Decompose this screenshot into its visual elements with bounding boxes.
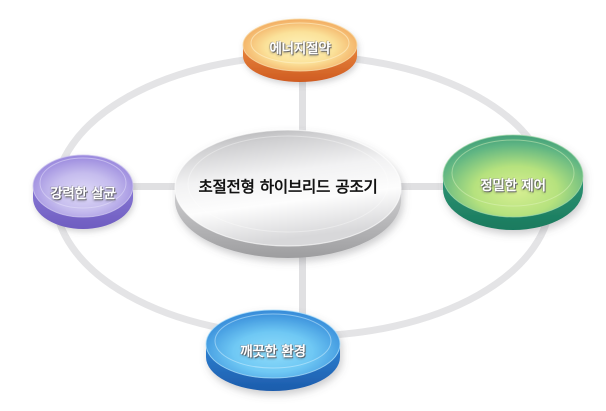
diagram-canvas: 초절전형 하이브리드 공조기 에너지절약 정밀한 제어 깨끗한 환경 강력한 살…: [0, 0, 606, 411]
node-energy-saving-shape[interactable]: [243, 19, 357, 82]
node-precise-control-shape[interactable]: [443, 135, 583, 230]
center-node-shape: [175, 130, 401, 258]
node-clean-environment-shape[interactable]: [206, 310, 340, 391]
radial-diagram-graphic: [0, 0, 606, 411]
node-powerful-sterilization-shape[interactable]: [33, 155, 133, 229]
